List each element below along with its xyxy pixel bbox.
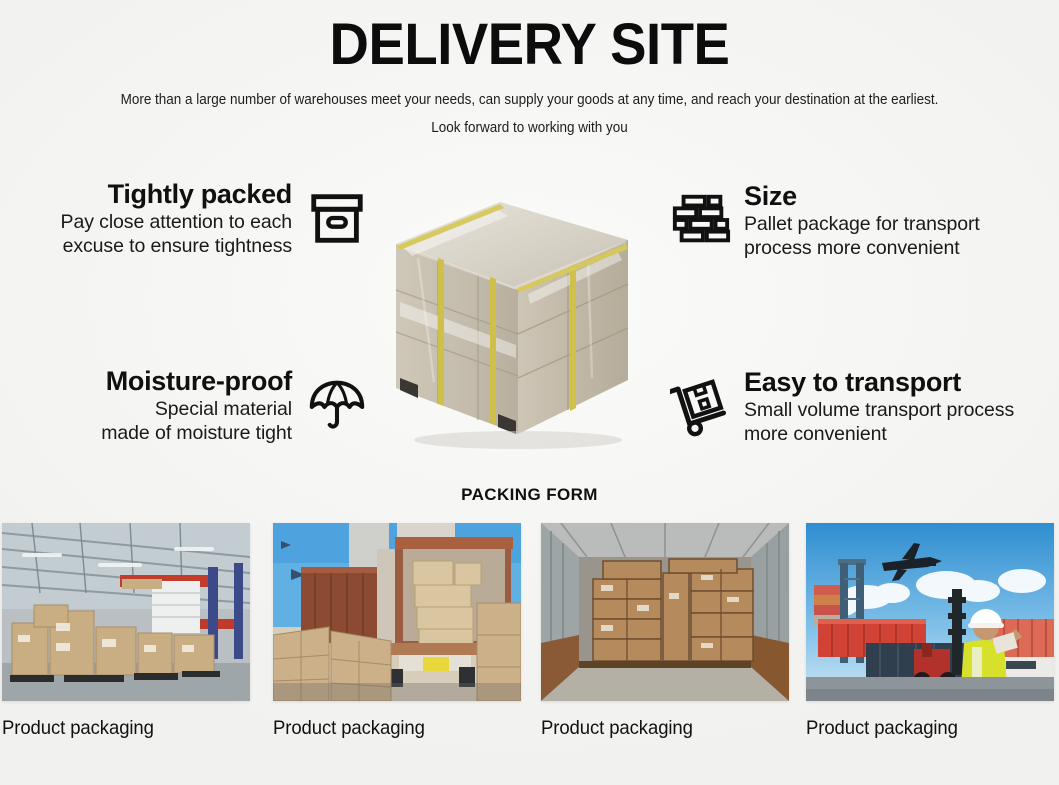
archive-box-icon <box>306 187 368 249</box>
feature-text-block: Tightly packed Pay close attention to ea… <box>61 178 306 258</box>
delivery-site-banner: DELIVERY SITE More than a large number o… <box>0 0 1059 785</box>
feature-desc-line-2: excuse to ensure tightness <box>61 234 292 258</box>
packing-form-heading: PACKING FORM <box>0 484 1059 506</box>
packing-form-gallery: Product packaging <box>0 523 1059 773</box>
feature-desc-line-1: Small volume transport process <box>744 398 1014 422</box>
page-subtitle-line-2: Look forward to working with you <box>37 118 1022 138</box>
page-title: DELIVERY SITE <box>32 14 1027 76</box>
container-loading-photo <box>273 523 521 701</box>
wrapped-pallet-photo <box>378 182 644 457</box>
feature-easy-to-transport: Easy to transport Small volume transport… <box>670 366 1059 446</box>
gallery-item[interactable]: Product packaging <box>2 523 250 741</box>
gallery-caption: Product packaging <box>2 715 238 741</box>
brick-wall-icon <box>670 189 732 251</box>
page-subtitle-line-1: More than a large number of warehouses m… <box>37 90 1022 110</box>
umbrella-icon <box>306 374 368 436</box>
feature-desc-line-2: process more convenient <box>744 236 980 260</box>
gallery-item[interactable]: Product packaging <box>273 523 521 741</box>
feature-text-block: Easy to transport Small volume transport… <box>732 366 1014 446</box>
feature-title: Tightly packed <box>61 178 292 210</box>
feature-size: Size Pallet package for transport proces… <box>670 180 1059 260</box>
feature-desc-line-2: made of moisture tight <box>101 421 292 445</box>
gallery-caption: Product packaging <box>541 715 777 741</box>
feature-desc-line-1: Pallet package for transport <box>744 212 980 236</box>
feature-desc-line-2: more convenient <box>744 422 1014 446</box>
feature-moisture-proof: Moisture-proof Special material made of … <box>0 365 368 445</box>
gallery-caption: Product packaging <box>273 715 509 741</box>
feature-desc-line-1: Pay close attention to each <box>61 210 292 234</box>
feature-title: Moisture-proof <box>101 365 292 397</box>
warehouse-interior-photo <box>2 523 250 701</box>
feature-tightly-packed: Tightly packed Pay close attention to ea… <box>0 178 368 258</box>
feature-text-block: Size Pallet package for transport proces… <box>732 180 980 260</box>
gallery-caption: Product packaging <box>806 715 1042 741</box>
gallery-item[interactable]: Product packaging <box>806 523 1054 741</box>
port-logistics-photo <box>806 523 1054 701</box>
feature-title: Size <box>744 180 980 212</box>
hand-truck-icon <box>670 375 732 437</box>
feature-title: Easy to transport <box>744 366 1014 398</box>
feature-desc-line-1: Special material <box>101 397 292 421</box>
gallery-item[interactable]: Product packaging <box>541 523 789 741</box>
container-interior-photo <box>541 523 789 701</box>
feature-text-block: Moisture-proof Special material made of … <box>101 365 306 445</box>
